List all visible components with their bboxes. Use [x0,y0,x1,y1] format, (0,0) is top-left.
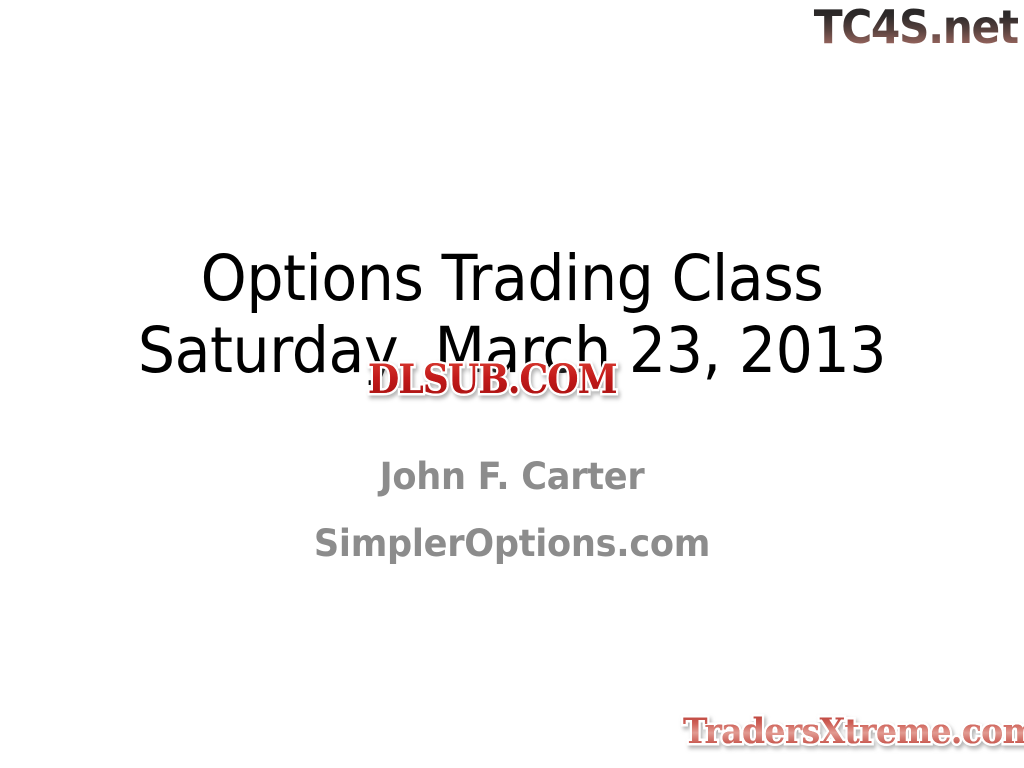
tc4s-brand-logo: TC4S.net [814,2,1018,52]
tradersxtreme-watermark-fill: TradersXtreme.com [683,711,1024,753]
dlsub-watermark: DLSUB.COMDLSUB.COM [368,358,617,402]
tradersxtreme-watermark: TradersXtreme.comTradersXtreme.com [683,711,1024,753]
presenter-website: SimplerOptions.com [26,510,999,577]
presentation-slide: TC4S.net Options Trading Class Saturday,… [0,0,1024,768]
slide-title-line-1: Options Trading Class [36,243,988,315]
presenter-name: John F. Carter [26,443,999,510]
slide-subtitle-block: John F. Carter SimplerOptions.com [0,443,1024,577]
dlsub-watermark-fill: DLSUB.COM [368,358,617,402]
